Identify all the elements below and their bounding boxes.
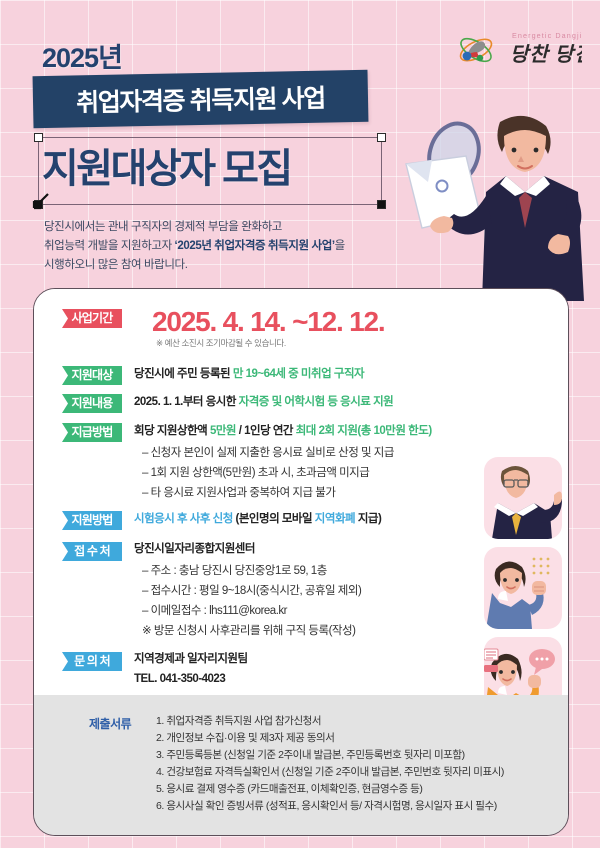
info-card-gray-section: 제출서류 1. 취업자격증 취득지원 사업 참가신청서 2. 개인정보 수집·이… [34, 695, 569, 836]
mini-illustration-man-presenting [484, 457, 562, 539]
intro-line-2: 취업능력 개발을 지원하고자 ‘2025년 취업자격증 취득지원 사업’을 [44, 237, 394, 256]
badge-period: 사업기간 [62, 309, 122, 328]
payment-main-text: 회당 지원상한액 5만원 / 1인당 연간 최대 2회 지원(총 10만원 한도… [134, 423, 432, 440]
target-text-emphasis: 만 19~64세 중 미취업 구직자 [233, 368, 364, 380]
resize-handle-top-left[interactable] [34, 133, 43, 142]
list-item: 3. 주민등록등본 (신청일 기준 2주이내 발급본, 주민등록번호 뒷자리 미… [156, 747, 504, 764]
dangjin-logo: Energetic Dangjin 당찬 당진 [454, 27, 582, 71]
intro-line-3: 시행하오니 많은 참여 바랍니다. [44, 256, 394, 275]
intro-line-1: 당진시에서는 관내 구직자의 경제적 부담을 완화하고 [44, 218, 394, 237]
reception-bullet-1: – 주소 : 충남 당진시 당진중앙1로 59, 1층 [142, 563, 327, 580]
title-band: 취업자격증 취득지원 사업 [33, 70, 369, 128]
list-item: 5. 응시료 결제 영수증 (카드매출전표, 이체확인증, 현금영수증 등) [156, 781, 504, 798]
documents-label: 제출서류 [89, 715, 131, 732]
intro-line-2-post: 을 [335, 240, 345, 252]
payment-emphasis-1: 5만원 [210, 425, 236, 437]
inquiry-line-2: TEL. 041-350-4023 [134, 671, 225, 688]
reception-bullet-3: – 이메일접수 : lhs111@korea.kr [142, 603, 287, 620]
intro-line-2-pre: 취업능력 개발을 지원하고자 [44, 240, 175, 252]
badge-inquiry: 문 의 처 [62, 652, 122, 671]
list-item: 4. 건강보험료 자격득실확인서 (신청일 기준 2주이내 발급본, 주민번호 … [156, 764, 504, 781]
list-item: 2. 개인정보 수집·이용 및 제3자 제공 동의서 [156, 730, 504, 747]
target-text: 당진시에 주민 등록된 만 19~64세 중 미취업 구직자 [134, 366, 364, 383]
payment-bullet-1: – 신청자 본인이 실제 지출한 응시료 실비로 산정 및 지급 [142, 445, 394, 462]
logo-emblem [457, 34, 495, 66]
reception-bullet-2: – 접수시간 : 평일 9~18시(중식시간, 공휴일 제외) [142, 583, 361, 600]
logo-tagline: Energetic Dangjin [512, 31, 582, 40]
period-value: 2025. 4. 14. ~12. 12. [152, 306, 384, 338]
method-mid: (본인명의 모바일 [233, 513, 315, 525]
logo-wordmark: 당찬 당진 [510, 44, 582, 66]
content-text: 2025. 1. 1.부터 응시한 자격증 및 어학시험 등 응시료 지원 [134, 394, 393, 411]
payment-main-b: / 1인당 연간 [236, 425, 296, 437]
content-text-emphasis: 자격증 및 어학시험 등 응시료 지원 [239, 396, 394, 408]
badge-payment: 지급방법 [62, 423, 122, 442]
method-end: 지급) [355, 513, 381, 525]
sparkle-dots-icon [533, 558, 550, 575]
badge-target: 지원대상 [62, 366, 122, 385]
man-presenting-figure [484, 457, 562, 539]
document-stack-icon [484, 649, 498, 672]
businessman-with-magnifier-illustration [382, 96, 600, 301]
info-card-white-section: 사업기간 2025. 4. 14. ~12. 12. ※ 예산 소진시 조기마감… [34, 289, 569, 695]
badge-reception: 접 수 처 [62, 542, 122, 561]
method-emphasis-2: 지역화폐 [315, 513, 355, 525]
period-note: ※ 예산 소진시 조기마감될 수 있습니다. [156, 337, 286, 349]
selection-bounding-box[interactable] [38, 137, 382, 205]
title-band-text: 취업자격증 취득지원 사업 [33, 70, 369, 128]
list-item: 1. 취업자격증 취득지원 사업 참가신청서 [156, 713, 504, 730]
payment-bullet-2: – 1회 지원 상한액(5만원) 초과 시, 초과금액 미지급 [142, 465, 369, 482]
reception-bullet-4: ※ 방문 신청시 사후관리를 위해 구직 등록(작성) [142, 623, 355, 640]
resize-handle-bottom-left[interactable] [34, 200, 43, 209]
method-emphasis-1: 시험응시 후 사후 신청 [134, 513, 233, 525]
documents-list: 1. 취업자격증 취득지원 사업 참가신청서 2. 개인정보 수집·이용 및 제… [156, 713, 504, 815]
payment-emphasis-2: 최대 2회 지원(총 10만원 한도) [296, 425, 432, 437]
target-text-pre: 당진시에 주민 등록된 [134, 368, 233, 380]
info-card: 사업기간 2025. 4. 14. ~12. 12. ※ 예산 소진시 조기마감… [33, 288, 569, 836]
intro-paragraph: 당진시에서는 관내 구직자의 경제적 부담을 완화하고 취업능력 개발을 지원하… [44, 218, 394, 275]
badge-content: 지원내용 [62, 394, 122, 413]
method-text: 시험응시 후 사후 신청 (본인명의 모바일 지역화폐 지급) [134, 511, 381, 528]
intro-line-2-strong: ‘2025년 취업자격증 취득지원 사업’ [175, 240, 335, 252]
speech-bubble-icon [529, 649, 555, 675]
reception-title: 당진시일자리종합지원센터 [134, 541, 255, 558]
list-item: 6. 응시사실 확인 증빙서류 (성적표, 응시확인서 등/ 자격시험명, 응시… [156, 798, 504, 815]
payment-bullet-3: – 타 응시료 지원사업과 중복하여 지급 불가 [142, 485, 335, 502]
poster-canvas: 2025년 취업자격증 취득지원 사업 지원대상자 모집 [0, 0, 600, 848]
mini-illustration-woman-cheering [484, 547, 562, 629]
content-text-pre: 2025. 1. 1.부터 응시한 [134, 396, 239, 408]
badge-method: 지원방법 [62, 511, 122, 530]
payment-main-a: 회당 지원상한액 [134, 425, 210, 437]
year-label: 2025년 [42, 36, 122, 75]
woman-cheering-figure [484, 547, 562, 629]
inquiry-line-1: 지역경제과 일자리지원팀 [134, 651, 248, 668]
